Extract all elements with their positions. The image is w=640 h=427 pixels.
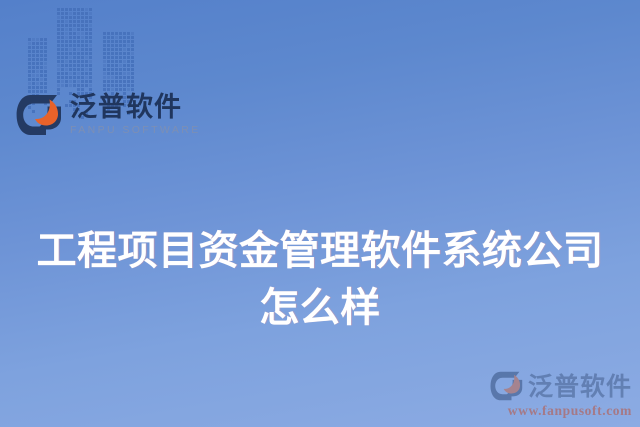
brand-name-cn: 泛普软件 [70,94,201,121]
brand-name-en: FANPU SOFTWARE [70,125,201,136]
skyline-building-center [57,8,97,100]
watermark: 泛普软件 www.fanpusoft.com [490,371,632,419]
watermark-logo: 泛普软件 [490,371,632,401]
fanpu-logo-mark-icon [490,371,523,401]
page-title: 工程项目资金管理软件系统公司 怎么样 [0,223,640,337]
watermark-url: www.fanpusoft.com [490,403,632,419]
page-title-line-2: 怎么样 [0,280,640,337]
page-title-line-1: 工程项目资金管理软件系统公司 [0,223,640,280]
fanpu-logo-mark-icon [16,94,62,136]
brand-logo-wordmark: 泛普软件 FANPU SOFTWARE [70,94,201,136]
skyline-decoration [0,0,200,100]
watermark-brand-name: 泛普软件 [528,374,632,399]
promo-banner: 泛普软件 FANPU SOFTWARE 工程项目资金管理软件系统公司 怎么样 泛… [0,0,640,427]
skyline-building-right [103,32,141,100]
skyline-building-left [28,38,50,100]
brand-logo[interactable]: 泛普软件 FANPU SOFTWARE [16,94,201,136]
